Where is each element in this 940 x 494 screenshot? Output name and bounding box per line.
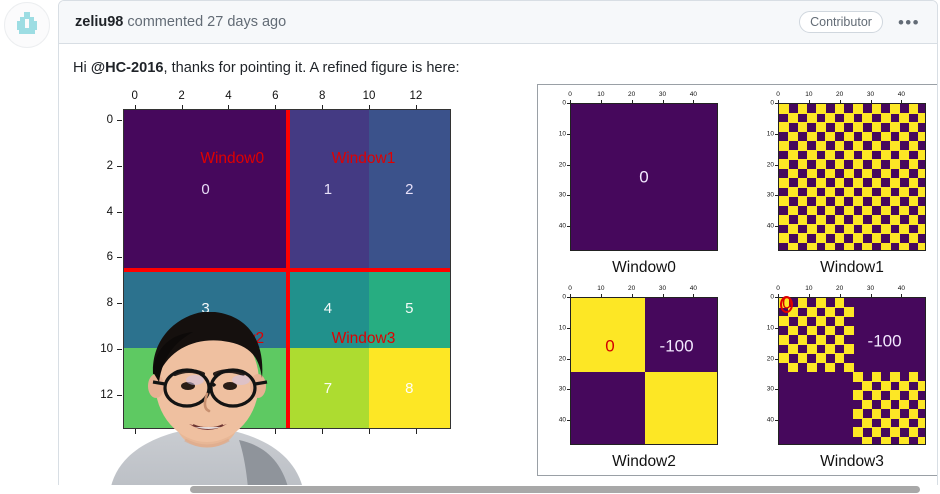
y-tick-mark — [567, 420, 570, 421]
x-tick-label: 40 — [898, 285, 905, 292]
y-tick-mark — [117, 212, 122, 213]
comment-meta: zeliu98 commented 27 days ago — [75, 14, 286, 30]
x-tick-label: 10 — [597, 285, 604, 292]
y-tick-label: 4 — [107, 206, 113, 218]
y-tick-mark — [775, 420, 778, 421]
heatmap-cell: 8 — [369, 348, 450, 427]
y-tick-mark — [775, 165, 778, 166]
subplot-y-axis: 010203040 — [554, 297, 570, 445]
heatmap-cell-label: 8 — [405, 380, 413, 397]
mask-cell — [918, 400, 926, 410]
mask-cell — [844, 326, 854, 336]
horizontal-scrollbar[interactable] — [0, 485, 940, 494]
x-tick-mark — [778, 100, 779, 103]
mask-cell — [825, 363, 835, 373]
x-tick-mark-bottom — [369, 429, 370, 434]
mask-cell — [918, 169, 926, 179]
mask-cell — [918, 187, 926, 197]
mask-cell — [918, 437, 926, 445]
x-tick-mark — [840, 100, 841, 103]
mask-cell — [825, 243, 835, 251]
x-tick-label: 30 — [659, 91, 666, 98]
heatmap-cell: 2 — [369, 110, 450, 269]
highlight-circle — [780, 296, 793, 313]
heatmap-cell-label: 0 — [201, 181, 209, 198]
y-tick-label: 0 — [770, 99, 774, 106]
kebab-menu-icon[interactable]: ••• — [895, 12, 923, 33]
left-heatmap-figure: 024681012 024681012 012345678Window0Wind… — [83, 90, 463, 440]
mask-cell — [807, 363, 817, 373]
x-tick-label: 20 — [836, 91, 843, 98]
y-tick-label: 2 — [107, 160, 113, 172]
mask-cell — [881, 437, 891, 445]
mask-heatmap — [570, 297, 718, 445]
y-tick-label: 30 — [767, 192, 774, 199]
x-tick-mark — [570, 100, 571, 103]
mention-link[interactable]: @HC-2016 — [91, 60, 164, 76]
heatmap-cell-label: 1 — [324, 181, 332, 198]
x-tick-mark — [632, 294, 633, 297]
x-tick-mark — [693, 294, 694, 297]
y-tick-mark — [567, 359, 570, 360]
heatmap-cell: 1 — [287, 110, 368, 269]
y-tick-mark — [117, 303, 122, 304]
mask-block — [571, 298, 645, 372]
x-tick-label: 2 — [178, 90, 184, 102]
y-tick-mark — [775, 103, 778, 104]
x-tick-mark — [809, 100, 810, 103]
x-tick-label: 0 — [568, 285, 572, 292]
presenter-webcam-overlay — [89, 312, 323, 494]
comment-header-actions: Contributor ••• — [799, 11, 923, 33]
y-tick-mark — [567, 103, 570, 104]
y-tick-label: 6 — [107, 251, 113, 263]
x-tick-mark — [871, 100, 872, 103]
comment-author[interactable]: zeliu98 — [75, 14, 123, 30]
y-tick-mark — [775, 359, 778, 360]
y-tick-mark — [567, 134, 570, 135]
y-tick-mark — [567, 328, 570, 329]
x-tick-mark — [778, 294, 779, 297]
mask-cell — [881, 243, 891, 251]
x-tick-mark — [601, 100, 602, 103]
x-tick-mark — [901, 100, 902, 103]
x-tick-label: 0 — [132, 90, 138, 102]
y-tick-label: 30 — [559, 386, 566, 393]
x-tick-label: 40 — [898, 91, 905, 98]
y-tick-label: 10 — [559, 324, 566, 331]
y-tick-mark — [117, 166, 122, 167]
subplot-x-axis: 010203040 — [778, 285, 926, 297]
heatmap-cell-label: 4 — [324, 300, 332, 317]
x-tick-label: 30 — [867, 91, 874, 98]
subplot-y-axis: 010203040 — [762, 297, 778, 445]
x-tick-label: 12 — [409, 90, 422, 102]
window-masks-panel: 0102030400102030400Window001020304001020… — [537, 84, 938, 476]
x-tick-mark — [601, 294, 602, 297]
mask-cell — [788, 243, 798, 251]
y-tick-mark — [775, 226, 778, 227]
x-tick-label: 10 — [363, 90, 376, 102]
y-tick-label: 8 — [107, 297, 113, 309]
subplot-y-axis: 010203040 — [762, 103, 778, 251]
x-tick-label: 8 — [319, 90, 325, 102]
comment-timestamp: commented 27 days ago — [127, 14, 286, 30]
x-tick-label: 4 — [225, 90, 231, 102]
x-tick-mark — [663, 100, 664, 103]
y-tick-label: 0 — [562, 293, 566, 300]
heatmap-cell-label: 5 — [405, 300, 413, 317]
subplot-title: Window1 — [778, 259, 926, 277]
heatmap-cell-label: 7 — [324, 380, 332, 397]
mask-cell — [918, 206, 926, 216]
mask-cell — [918, 132, 926, 142]
x-tick-mark — [901, 294, 902, 297]
mask-cell — [844, 243, 854, 251]
y-tick-label: 10 — [767, 130, 774, 137]
user-avatar-icon — [12, 10, 42, 40]
y-tick-label: 0 — [770, 293, 774, 300]
x-tick-label: 0 — [776, 91, 780, 98]
subplot-title: Window2 — [570, 453, 718, 471]
subplot-y-axis: 010203040 — [554, 103, 570, 251]
y-tick-mark — [567, 389, 570, 390]
mask-block — [645, 372, 718, 445]
x-tick-label: 6 — [272, 90, 278, 102]
y-tick-mark — [117, 120, 122, 121]
x-tick-label: 10 — [805, 285, 812, 292]
x-tick-mark-bottom — [416, 429, 417, 434]
y-tick-label: 20 — [767, 161, 774, 168]
x-tick-label: 30 — [867, 285, 874, 292]
x-tick-label: 40 — [690, 285, 697, 292]
window-separator-horizontal — [124, 268, 450, 272]
mask-cell — [899, 243, 909, 251]
y-tick-label: 10 — [559, 130, 566, 137]
mask-heatmap — [778, 103, 926, 251]
mask-cell — [918, 418, 926, 428]
comment-card: zeliu98 commented 27 days ago Contributo… — [58, 0, 938, 494]
subplot-x-axis: 010203040 — [570, 91, 718, 103]
x-tick-label: 0 — [776, 285, 780, 292]
x-tick-mark — [871, 294, 872, 297]
y-tick-mark — [117, 257, 122, 258]
comment-text-post: , thanks for pointing it. A refined figu… — [163, 60, 459, 76]
y-tick-label: 0 — [562, 99, 566, 106]
left-plot-x-axis: 024681012 — [123, 90, 451, 108]
x-tick-label: 40 — [690, 91, 697, 98]
figure-area: 024681012 024681012 012345678Window0Wind… — [73, 90, 921, 494]
x-tick-label: 10 — [805, 91, 812, 98]
y-tick-label: 40 — [767, 417, 774, 424]
comment-pointer — [58, 12, 68, 32]
y-tick-label: 10 — [767, 324, 774, 331]
x-tick-mark — [693, 100, 694, 103]
subplot-x-axis: 010203040 — [570, 285, 718, 297]
window-label: Window1 — [332, 150, 396, 168]
comment-text: Hi @HC-2016, thanks for pointing it. A r… — [73, 58, 921, 80]
mask-value-label: 0 — [605, 337, 614, 354]
mask-cell — [788, 363, 798, 373]
x-tick-label: 20 — [628, 285, 635, 292]
x-tick-label: 30 — [659, 285, 666, 292]
x-tick-mark — [840, 294, 841, 297]
x-tick-mark — [809, 294, 810, 297]
subplot-title: Window3 — [778, 453, 926, 471]
mask-cell — [844, 344, 854, 354]
comment-header: zeliu98 commented 27 days ago Contributo… — [59, 1, 937, 44]
heatmap-cell: 0 — [124, 110, 287, 269]
comment-body: Hi @HC-2016, thanks for pointing it. A r… — [59, 44, 937, 494]
y-tick-label: 30 — [767, 386, 774, 393]
y-tick-mark — [775, 389, 778, 390]
y-tick-mark — [567, 165, 570, 166]
y-tick-mark — [567, 195, 570, 196]
window-label: Window3 — [332, 330, 396, 348]
mask-cell — [862, 437, 872, 445]
mask-cell — [918, 224, 926, 234]
mask-cell — [918, 150, 926, 160]
x-tick-label: 10 — [597, 91, 604, 98]
mask-cell — [862, 243, 872, 251]
y-tick-label: 40 — [559, 223, 566, 230]
x-tick-label: 0 — [568, 91, 572, 98]
y-tick-label: 30 — [559, 192, 566, 199]
window-label: Window0 — [200, 150, 264, 168]
avatar-circle[interactable] — [4, 2, 50, 48]
y-tick-mark — [775, 297, 778, 298]
y-tick-label: 0 — [107, 114, 113, 126]
x-tick-label: 20 — [836, 285, 843, 292]
subplot-title: Window0 — [570, 259, 718, 277]
heatmap-cell-label: 2 — [405, 181, 413, 198]
mask-cell — [918, 113, 926, 123]
mask-value-label: 0 — [639, 168, 648, 185]
y-tick-label: 20 — [559, 355, 566, 362]
mask-heatmap — [778, 297, 926, 445]
status-badge: Contributor — [799, 11, 883, 33]
mask-cell — [918, 243, 926, 251]
y-tick-label: 20 — [559, 161, 566, 168]
x-tick-mark — [632, 100, 633, 103]
comment-text-pre: Hi — [73, 60, 91, 76]
scrollbar-thumb[interactable] — [190, 486, 920, 493]
avatar[interactable] — [4, 2, 50, 48]
page-root: zeliu98 commented 27 days ago Contributo… — [0, 0, 940, 494]
mask-cell — [899, 437, 909, 445]
y-tick-label: 20 — [767, 355, 774, 362]
y-tick-mark — [775, 134, 778, 135]
x-tick-mark — [570, 294, 571, 297]
y-tick-label: 40 — [559, 417, 566, 424]
x-tick-label: 20 — [628, 91, 635, 98]
y-tick-mark — [775, 328, 778, 329]
y-tick-mark — [775, 195, 778, 196]
subplot-x-axis: 010203040 — [778, 91, 926, 103]
mask-value-label: -100 — [660, 337, 694, 354]
mask-cell — [807, 243, 817, 251]
y-tick-mark — [567, 226, 570, 227]
mask-value-label: -100 — [868, 333, 902, 350]
y-tick-label: 40 — [767, 223, 774, 230]
x-tick-mark — [663, 294, 664, 297]
mask-cell — [918, 381, 926, 391]
mask-cell — [844, 307, 854, 317]
y-tick-mark — [567, 297, 570, 298]
presenter-portrait — [89, 312, 323, 494]
